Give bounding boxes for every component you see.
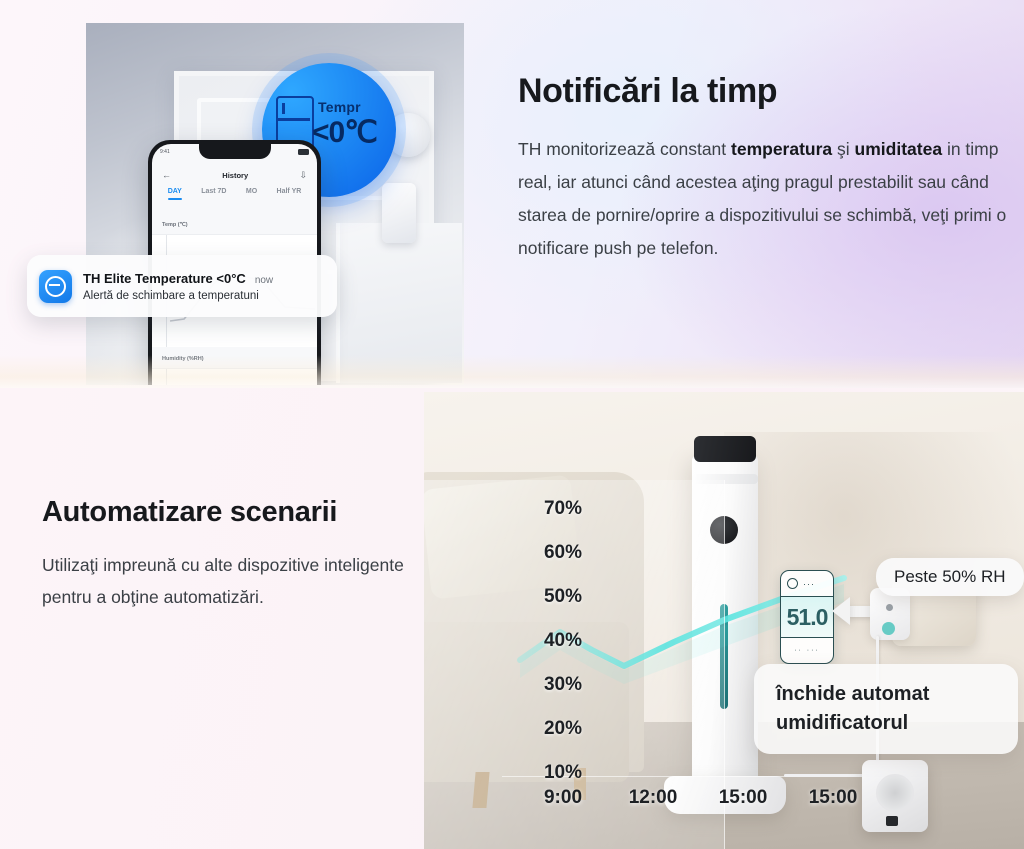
- bottom-text-block: Automatizare scenarii Utilizaţi impreună…: [42, 496, 412, 613]
- top-paragraph-part-3: umiditatea: [855, 139, 943, 159]
- bottom-paragraph: Utilizaţi impreună cu alte dispozitive i…: [42, 549, 412, 613]
- top-paragraph-part-0: TH monitorizează constant: [518, 139, 731, 159]
- temp-chart-label: Temp (℃): [162, 222, 188, 228]
- phone-nav-bar: ← History ⇩: [152, 164, 317, 186]
- top-paragraph-part-2: şi: [832, 139, 854, 159]
- sensor-device-graphic: [382, 183, 416, 243]
- humidity-reading-card: ··· 51.0 ·· ···: [780, 570, 834, 664]
- bottom-heading: Automatizare scenarii: [42, 496, 412, 529]
- y-tick-10: 10%: [506, 762, 582, 784]
- notification-time: now: [255, 275, 273, 286]
- x-tick-1: 12:00: [608, 787, 698, 809]
- humidity-value: 51.0: [781, 597, 833, 638]
- tab-last-7d[interactable]: Last 7D: [201, 188, 226, 200]
- menu-dots-icon: ···: [803, 579, 815, 589]
- threshold-callout: Peste 50% RH: [876, 558, 1024, 596]
- plug-port-icon: [886, 604, 893, 611]
- tab-day[interactable]: DAY: [168, 188, 182, 200]
- notification-title: TH Elite Temperature <0°C: [83, 271, 246, 286]
- notification-subtitle: Alertă de schimbare a temperatuni: [83, 290, 325, 302]
- plug-led-indicator: [882, 622, 895, 635]
- back-arrow-icon[interactable]: ←: [162, 170, 171, 180]
- humidity-ring-icon: [787, 578, 798, 589]
- y-tick-50: 50%: [506, 586, 582, 608]
- card-footer-row: ·· ···: [781, 638, 833, 662]
- y-tick-40: 40%: [506, 630, 582, 652]
- automation-scene-photo: 70% 60% 50% 40% 30% 20% 10% 9:00 12:00 1…: [424, 392, 1024, 849]
- card-header-row: ···: [781, 571, 833, 597]
- push-notification-card[interactable]: TH Elite Temperature <0°C now Alertă de …: [27, 255, 337, 317]
- y-tick-30: 30%: [506, 674, 582, 696]
- chart-x-axis-labels: 9:00 12:00 15:00 15:00: [518, 787, 1018, 809]
- x-tick-2: 15:00: [698, 787, 788, 809]
- phone-status-bar: 9:41: [152, 146, 317, 158]
- y-tick-60: 60%: [506, 542, 582, 564]
- battery-icon: [298, 149, 309, 155]
- notification-title-row: TH Elite Temperature <0°C now: [83, 271, 325, 286]
- top-feature-panel: Tempr <0℃ 9:41 ← History ⇩: [0, 0, 1024, 388]
- status-time: 9:41: [160, 149, 170, 155]
- top-paragraph: TH monitorizează constant temperatura şi…: [518, 133, 1008, 265]
- top-text-block: Notificări la timp TH monitorizează cons…: [518, 72, 1008, 265]
- badge-label: Tempr: [318, 99, 361, 115]
- top-paragraph-part-1: temperatura: [731, 139, 832, 159]
- tab-mo[interactable]: MO: [246, 188, 257, 200]
- power-adapter-graphic: [862, 760, 928, 832]
- action-callout: închide automat umidificatorul: [754, 664, 1018, 754]
- y-tick-20: 20%: [506, 718, 582, 740]
- top-heading: Notificări la timp: [518, 72, 1008, 111]
- adapter-switch: [886, 816, 898, 826]
- adapter-socket-hole: [876, 774, 914, 812]
- tab-half-yr[interactable]: Half YR: [277, 188, 302, 200]
- app-glyph-icon: [45, 276, 66, 297]
- phone-tab-bar: DAY Last 7D MO Half YR: [152, 188, 317, 200]
- ewelink-app-icon: [39, 270, 72, 303]
- notification-body: TH Elite Temperature <0°C now Alertă de …: [83, 271, 325, 302]
- badge-value: <0℃: [312, 115, 377, 150]
- phone-page-title: History: [222, 171, 248, 180]
- product-feature-page: Tempr <0℃ 9:41 ← History ⇩: [0, 0, 1024, 849]
- notification-photo: Tempr <0℃ 9:41 ← History ⇩: [86, 23, 464, 385]
- chart-y-axis-labels: 70% 60% 50% 40% 30% 20% 10%: [506, 498, 582, 784]
- x-tick-0: 9:00: [518, 787, 608, 809]
- share-icon[interactable]: ⇩: [299, 170, 307, 181]
- arrow-left-icon: [832, 597, 850, 625]
- y-tick-70: 70%: [506, 498, 582, 520]
